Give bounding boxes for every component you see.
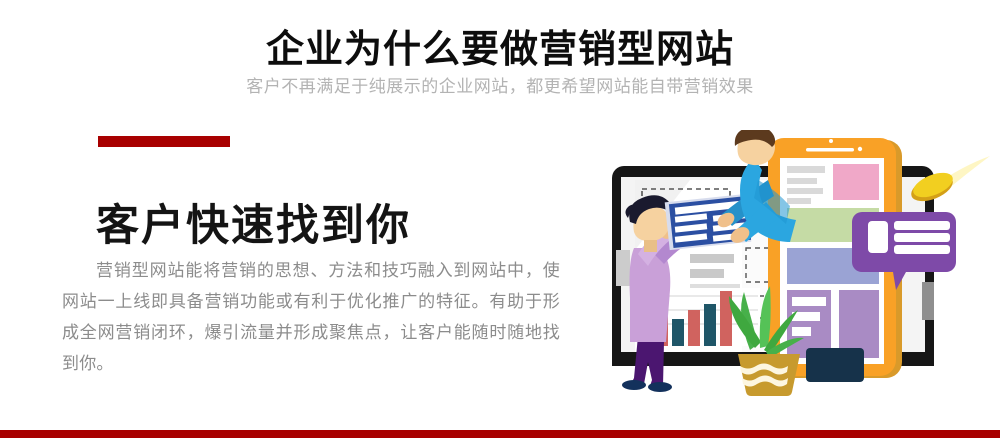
page-title: 企业为什么要做营销型网站 bbox=[0, 27, 1000, 73]
section-heading: 客户快速找到你 bbox=[96, 200, 411, 252]
hero-illustration bbox=[590, 130, 1000, 415]
coin-graphic bbox=[907, 156, 990, 206]
body-paragraph: 营销型网站能将营销的思想、方法和技巧融入到网站中，使网站一上线即具备营销功能或有… bbox=[62, 255, 560, 379]
poster-page: 企业为什么要做营销型网站 客户不再满足于纯展示的企业网站，都更希望网站能自带营销… bbox=[0, 0, 1000, 438]
page-subtitle: 客户不再满足于纯展示的企业网站，都更希望网站能自带营销效果 bbox=[0, 75, 1000, 99]
footer-rule bbox=[0, 430, 1000, 438]
accent-bar bbox=[98, 136, 230, 147]
